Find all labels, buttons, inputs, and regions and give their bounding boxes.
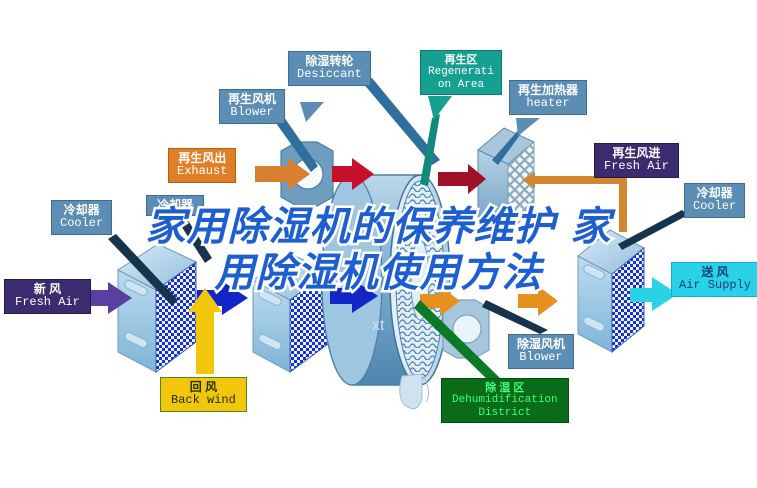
label-regen-exhaust-cn: 再生风出 bbox=[177, 152, 227, 165]
label-cooler-left-two-cn: 冷却器 bbox=[157, 199, 193, 212]
label-cooler-left-one-cn: 冷却器 bbox=[60, 204, 103, 217]
label-regen-heater-cn: 再生加热器 bbox=[518, 84, 578, 97]
label-air-supply-en: Air Supply bbox=[679, 279, 751, 292]
label-fresh-air-inlet-en: Fresh Air bbox=[15, 296, 80, 309]
label-regen-fresh-air[interactable]: 再生风进 Fresh Air bbox=[594, 143, 679, 178]
label-regen-blower-en: Blower bbox=[228, 106, 276, 119]
label-desiccant-wheel-en: Desiccant bbox=[297, 68, 362, 81]
label-back-wind[interactable]: 回 风 Back wind bbox=[160, 377, 247, 412]
label-regen-heater-en: heater bbox=[518, 97, 578, 110]
label-process-blower[interactable]: 除湿风机 Blower bbox=[508, 334, 574, 369]
label-regen-blower[interactable]: 再生风机 Blower bbox=[219, 89, 285, 124]
label-regen-area-cn: 再生区 bbox=[428, 54, 494, 66]
label-desiccant-wheel[interactable]: 除湿转轮 Desiccant bbox=[288, 51, 371, 86]
label-cooler-left-two[interactable]: 冷却器 bbox=[146, 195, 204, 216]
desiccant-rotor: xt bbox=[322, 175, 450, 385]
label-dehum-district-cn: 除 湿 区 bbox=[452, 382, 558, 394]
label-regen-exhaust-en: Exhaust bbox=[177, 165, 227, 178]
label-air-supply[interactable]: 送 风 Air Supply bbox=[671, 262, 757, 297]
label-regen-fresh-air-cn: 再生风进 bbox=[604, 147, 669, 160]
label-regen-blower-cn: 再生风机 bbox=[228, 93, 276, 106]
svg-text:xt: xt bbox=[372, 317, 385, 334]
label-fresh-air-inlet-cn: 新 风 bbox=[15, 283, 80, 296]
label-cooler-right-en: Cooler bbox=[693, 200, 736, 213]
label-regen-area[interactable]: 再生区 Regenerati on Area bbox=[420, 50, 502, 95]
label-cooler-right-cn: 冷却器 bbox=[693, 187, 736, 200]
label-dehum-district-en1: Dehumidification bbox=[452, 394, 558, 406]
label-fresh-air-inlet[interactable]: 新 风 Fresh Air bbox=[4, 279, 91, 314]
cooler-coil-1 bbox=[118, 244, 196, 372]
label-regen-area-en2: on Area bbox=[428, 79, 494, 91]
label-cooler-left-one[interactable]: 冷却器 Cooler bbox=[51, 200, 112, 235]
label-regen-heater[interactable]: 再生加热器 heater bbox=[509, 80, 587, 115]
label-back-wind-cn: 回 风 bbox=[171, 381, 236, 394]
label-cooler-right[interactable]: 冷却器 Cooler bbox=[684, 183, 745, 218]
label-dehumidification-district[interactable]: 除 湿 区 Dehumidification District bbox=[441, 378, 569, 423]
label-process-blower-cn: 除湿风机 bbox=[517, 338, 565, 351]
label-cooler-left-one-en: Cooler bbox=[60, 217, 103, 230]
label-air-supply-cn: 送 风 bbox=[679, 266, 751, 279]
label-regen-area-en1: Regenerati bbox=[428, 66, 494, 78]
label-process-blower-en: Blower bbox=[517, 351, 565, 364]
label-dehum-district-en2: District bbox=[452, 407, 558, 419]
label-back-wind-en: Back wind bbox=[171, 394, 236, 407]
label-desiccant-wheel-cn: 除湿转轮 bbox=[297, 55, 362, 68]
cooler-coil-2 bbox=[253, 254, 328, 372]
diagram-canvas: xt bbox=[0, 0, 757, 488]
blower-out-arrow bbox=[518, 286, 558, 316]
label-regen-fresh-air-en: Fresh Air bbox=[604, 160, 669, 173]
label-regen-exhaust[interactable]: 再生风出 Exhaust bbox=[168, 148, 236, 183]
dehumidifier-schematic: xt bbox=[0, 0, 757, 488]
